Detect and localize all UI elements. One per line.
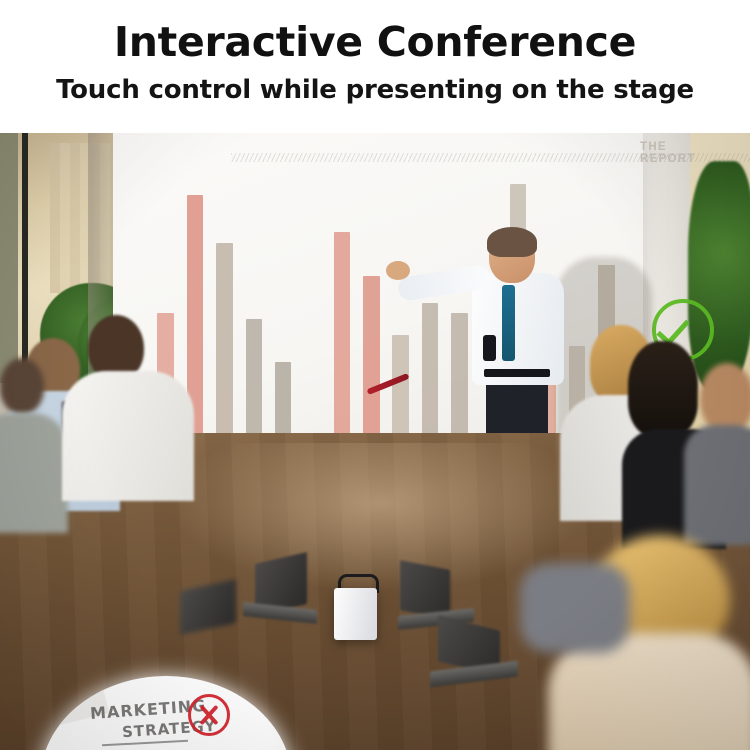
presenter-hand (386, 261, 410, 280)
chart-bar (246, 319, 262, 443)
chart-bar (392, 335, 408, 443)
chart-bar (216, 243, 232, 443)
window-frame-inner (22, 133, 28, 383)
attendee-hair (628, 341, 698, 437)
presenter-belt (484, 369, 550, 377)
table-light-glow (170, 443, 590, 593)
scene-photo: THE REPORT (0, 133, 750, 750)
attendee-body (0, 413, 68, 533)
chart-bar (334, 232, 350, 443)
attendee-head (0, 358, 44, 414)
attendee-head (700, 363, 750, 433)
page-root: Interactive Conference Touch control whi… (0, 0, 750, 750)
presenter-remote (483, 335, 496, 361)
window-frame-outer (0, 133, 18, 383)
x-reject-icon (188, 694, 230, 736)
foreground-person-arm (520, 563, 630, 653)
page-subtitle: Touch control while presenting on the st… (56, 77, 694, 103)
page-title: Interactive Conference (114, 22, 636, 63)
presenter-tie (502, 285, 515, 361)
chart-bar (451, 313, 467, 443)
header: Interactive Conference Touch control whi… (0, 0, 750, 133)
projector-body[interactable] (334, 588, 377, 640)
chart-bar (363, 276, 379, 443)
chart-bar (275, 362, 291, 443)
attendee-body (684, 425, 750, 545)
board-title-underline (102, 740, 188, 746)
attendee-body (62, 371, 194, 501)
presenter-hair (487, 227, 537, 257)
chart-bar (422, 303, 438, 443)
report-label: THE REPORT (640, 141, 696, 165)
